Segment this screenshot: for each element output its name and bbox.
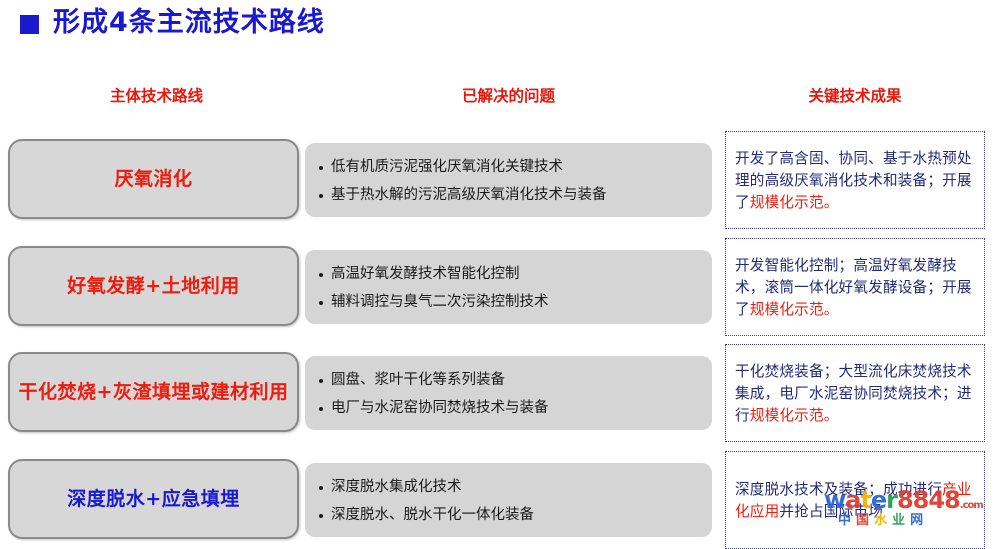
page-title-text: 形成4条主流技术路线 <box>53 8 325 38</box>
issues-box: 深度脱水集成化技术 深度脱水、脱水干化一体化装备 <box>305 463 712 537</box>
result-box: 干化焚烧装备；大型流化床焚烧技术集成，电厂水泥窑协同焚烧技术；进行规模化示范。 <box>725 344 985 442</box>
bullet-dot-icon <box>319 194 323 198</box>
column-header-issues: 已解决的问题 <box>305 84 712 106</box>
column-header-routes: 主体技术路线 <box>8 84 305 106</box>
result-tail-text: 并抢占国际市场 <box>779 503 883 520</box>
bullet-dot-icon <box>319 407 323 411</box>
issue-text: 圆盘、浆叶干化等系列装备 <box>331 372 505 389</box>
issue-text: 深度脱水集成化技术 <box>331 479 462 496</box>
table-row: 干化焚烧+灰渣填埋或建材利用 圆盘、浆叶干化等系列装备 电厂与水泥窑协同焚烧技术… <box>0 352 996 438</box>
bullet-dot-icon <box>319 514 323 518</box>
route-label: 好氧发酵+土地利用 <box>67 274 239 298</box>
issue-text: 低有机质污泥强化厌氧消化关键技术 <box>331 159 563 176</box>
issue-text: 电厂与水泥窑协同焚烧技术与装备 <box>331 400 549 417</box>
result-text: 开发了高含固、协同、基于水热预处理的高级厌氧消化技术和装备；开展了规模化示范。 <box>735 148 977 214</box>
route-label: 干化焚烧+灰渣填埋或建材利用 <box>19 380 289 404</box>
bullet-dot-icon <box>319 301 323 305</box>
list-item: 辅料调控与臭气二次污染控制技术 <box>319 294 704 311</box>
page-title: 形成4条主流技术路线 <box>20 8 325 38</box>
result-text: 开发智能化控制；高温好氧发酵技术，滚筒一体化好氧发酵设备；开展了规模化示范。 <box>735 255 977 321</box>
issue-text: 辅料调控与臭气二次污染控制技术 <box>331 294 549 311</box>
result-text: 干化焚烧装备；大型流化床焚烧技术集成，电厂水泥窑协同焚烧技术；进行规模化示范。 <box>735 361 977 427</box>
issue-text: 基于热水解的污泥高级厌氧消化技术与装备 <box>331 187 607 204</box>
route-label: 深度脱水+应急填埋 <box>67 487 239 511</box>
list-item: 基于热水解的污泥高级厌氧消化技术与装备 <box>319 187 704 204</box>
bullet-dot-icon <box>319 379 323 383</box>
route-label: 厌氧消化 <box>114 167 192 191</box>
list-item: 圆盘、浆叶干化等系列装备 <box>319 372 704 389</box>
bullet-dot-icon <box>319 486 323 490</box>
list-item: 深度脱水集成化技术 <box>319 479 704 496</box>
result-box: 开发了高含固、协同、基于水热预处理的高级厌氧消化技术和装备；开展了规模化示范。 <box>725 131 985 229</box>
list-item: 深度脱水、脱水干化一体化装备 <box>319 507 704 524</box>
issues-box: 高温好氧发酵技术智能化控制 辅料调控与臭气二次污染控制技术 <box>305 250 712 324</box>
list-item: 高温好氧发酵技术智能化控制 <box>319 266 704 283</box>
route-box[interactable]: 好氧发酵+土地利用 <box>8 246 299 326</box>
table-row: 好氧发酵+土地利用 高温好氧发酵技术智能化控制 辅料调控与臭气二次污染控制技术 … <box>0 246 996 332</box>
issues-box: 圆盘、浆叶干化等系列装备 电厂与水泥窑协同焚烧技术与装备 <box>305 356 712 430</box>
route-box[interactable]: 干化焚烧+灰渣填埋或建材利用 <box>8 352 299 432</box>
result-highlight-text: 规模化示范。 <box>750 407 839 424</box>
result-text: 深度脱水技术及装备；成功进行产业化应用并抢占国际市场 <box>735 479 977 523</box>
result-box: 深度脱水技术及装备；成功进行产业化应用并抢占国际市场 <box>725 451 985 549</box>
bullet-dot-icon <box>319 166 323 170</box>
issues-box: 低有机质污泥强化厌氧消化关键技术 基于热水解的污泥高级厌氧消化技术与装备 <box>305 143 712 217</box>
result-highlight-text: 规模化示范。 <box>750 194 839 211</box>
square-bullet-icon <box>20 15 39 34</box>
route-box[interactable]: 深度脱水+应急填埋 <box>8 459 299 539</box>
list-item: 低有机质污泥强化厌氧消化关键技术 <box>319 159 704 176</box>
result-plain-text: 深度脱水技术及装备；成功进行 <box>735 481 942 498</box>
issue-text: 高温好氧发酵技术智能化控制 <box>331 266 520 283</box>
bullet-dot-icon <box>319 273 323 277</box>
list-item: 电厂与水泥窑协同焚烧技术与装备 <box>319 400 704 417</box>
result-highlight-text: 规模化示范。 <box>750 301 839 318</box>
issue-text: 深度脱水、脱水干化一体化装备 <box>331 507 534 524</box>
table-row: 深度脱水+应急填埋 深度脱水集成化技术 深度脱水、脱水干化一体化装备 深度脱水技… <box>0 459 996 545</box>
table-row: 厌氧消化 低有机质污泥强化厌氧消化关键技术 基于热水解的污泥高级厌氧消化技术与装… <box>0 139 996 225</box>
result-box: 开发智能化控制；高温好氧发酵技术，滚筒一体化好氧发酵设备；开展了规模化示范。 <box>725 238 985 336</box>
route-box[interactable]: 厌氧消化 <box>8 139 299 219</box>
column-header-results: 关键技术成果 <box>725 84 985 106</box>
slide-canvas: 形成4条主流技术路线 主体技术路线 已解决的问题 关键技术成果 厌氧消化 低有机… <box>0 0 996 545</box>
